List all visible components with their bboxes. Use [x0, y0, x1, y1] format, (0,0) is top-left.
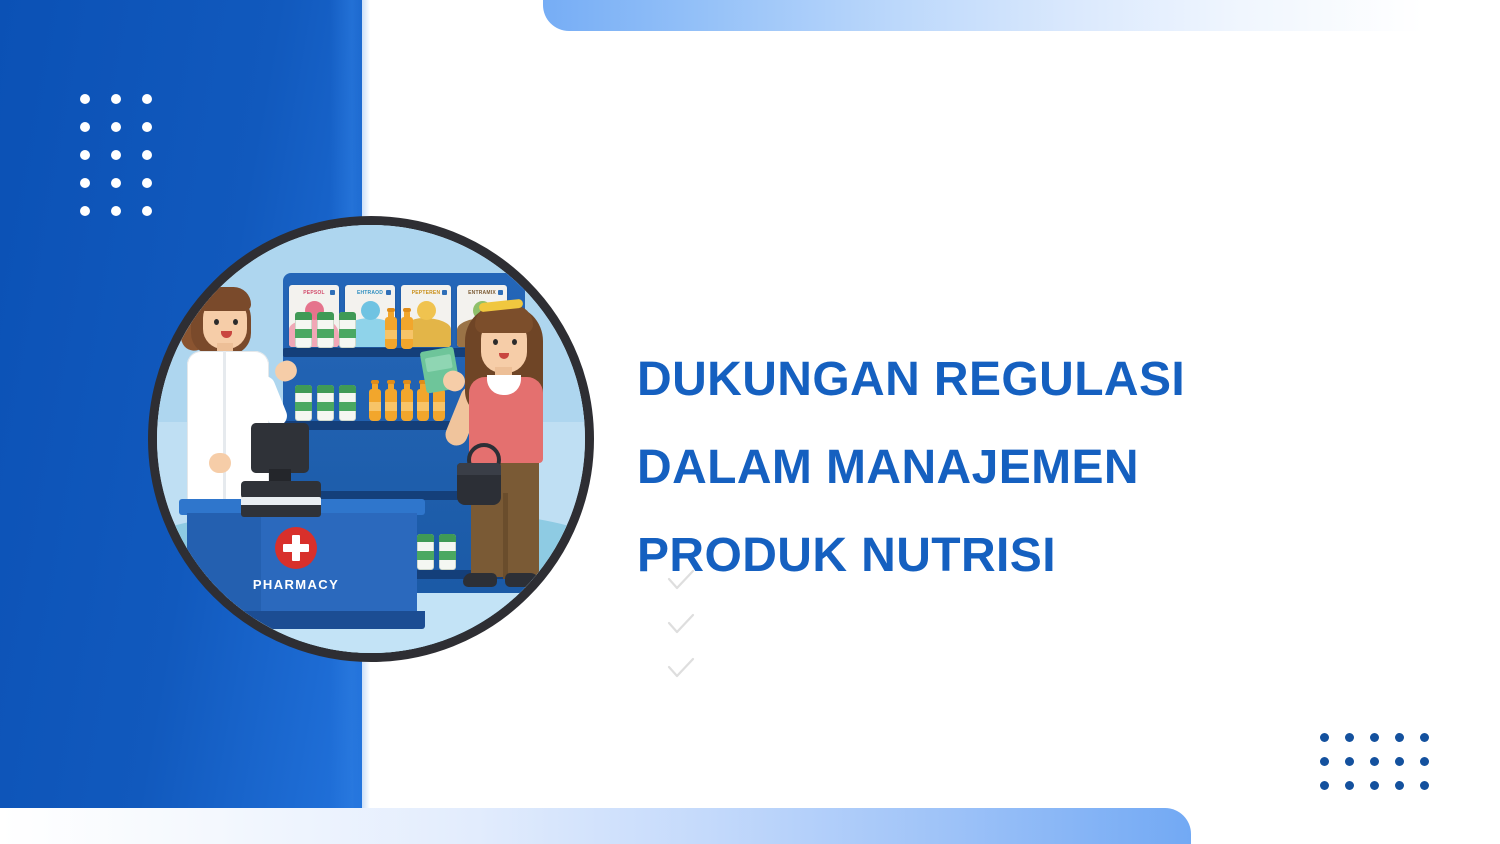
dot: [111, 178, 121, 188]
supplement-jar: [339, 312, 356, 348]
dot-grid-blue: [1320, 733, 1429, 790]
handbag-icon: [457, 463, 501, 505]
customer-leg-seam: [503, 493, 508, 579]
dot: [142, 122, 152, 132]
dot: [111, 206, 121, 216]
product-tick-icon: [386, 290, 391, 295]
pharmacy-counter-label: PHARMACY: [243, 577, 349, 592]
supplement-bottle: [433, 389, 445, 421]
dot: [142, 178, 152, 188]
cash-register-drawer: [241, 505, 321, 517]
pharmacist-eye: [233, 319, 238, 325]
dot: [1320, 757, 1329, 766]
top-gradient-bar: [543, 0, 1500, 31]
customer-shoe: [505, 573, 539, 587]
pharmacist-coat-seam: [223, 351, 226, 503]
dot: [142, 150, 152, 160]
dot: [1345, 781, 1354, 790]
dot: [1395, 781, 1404, 790]
pharmacist-eye: [214, 319, 219, 325]
slide-canvas: PEPSOL EHTRAOD PEPTEREN ENTRAMIX: [0, 0, 1500, 844]
dot: [80, 122, 90, 132]
pharmacy-counter-base: [179, 611, 425, 629]
check-item: [666, 568, 696, 612]
supplement-jar: [417, 534, 434, 570]
dot: [1420, 733, 1429, 742]
dot: [1345, 757, 1354, 766]
pharmacy-counter-side: [187, 513, 261, 619]
dot-grid-white: [80, 94, 152, 216]
check-item: [666, 612, 696, 656]
dot: [80, 94, 90, 104]
dot: [111, 122, 121, 132]
cash-register-screen: [251, 423, 309, 473]
supplement-bottle: [401, 317, 413, 349]
dot: [111, 150, 121, 160]
supplement-bottle: [385, 317, 397, 349]
dot: [142, 206, 152, 216]
pharmacy-illustration: PEPSOL EHTRAOD PEPTEREN ENTRAMIX: [148, 216, 594, 662]
pharmacist-hair: [199, 287, 251, 311]
check-icon: [666, 568, 696, 594]
check-icon: [666, 612, 696, 638]
title-line-1: DUKUNGAN REGULASI: [637, 336, 1397, 424]
medical-cross-icon: [275, 527, 317, 569]
product-tick-icon: [498, 290, 503, 295]
supplement-jar: [339, 385, 356, 421]
dot: [80, 206, 90, 216]
dot: [111, 94, 121, 104]
product-tick-icon: [330, 290, 335, 295]
supplement-bottle: [369, 389, 381, 421]
supplement-jar: [317, 312, 334, 348]
customer-eye: [512, 339, 517, 345]
dot: [1370, 757, 1379, 766]
dot: [1320, 733, 1329, 742]
customer-eye: [493, 339, 498, 345]
supplement-jar: [439, 534, 456, 570]
check-icon: [666, 656, 696, 682]
checklist: [666, 568, 696, 700]
product-tick-icon: [442, 290, 447, 295]
dot: [80, 178, 90, 188]
dot: [1395, 733, 1404, 742]
dot: [1370, 781, 1379, 790]
dot: [1420, 757, 1429, 766]
supplement-jar: [295, 385, 312, 421]
check-item: [666, 656, 696, 700]
dot: [1345, 733, 1354, 742]
supplement-bottle: [385, 389, 397, 421]
pharmacist-hand: [209, 453, 231, 473]
title-line-3: PRODUK NUTRISI: [637, 512, 1397, 600]
supplement-bottle: [417, 389, 429, 421]
dot: [1320, 781, 1329, 790]
supplement-jar: [295, 312, 312, 348]
dot: [1420, 781, 1429, 790]
bottom-gradient-bar: [0, 808, 1191, 844]
dot: [80, 150, 90, 160]
dot: [1395, 757, 1404, 766]
title-line-2: DALAM MANAJEMEN: [637, 424, 1397, 512]
supplement-bottle: [401, 389, 413, 421]
dot: [1370, 733, 1379, 742]
supplement-jar: [317, 385, 334, 421]
dot: [142, 94, 152, 104]
customer-shoe: [463, 573, 497, 587]
page-title: DUKUNGAN REGULASI DALAM MANAJEMEN PRODUK…: [637, 336, 1397, 600]
